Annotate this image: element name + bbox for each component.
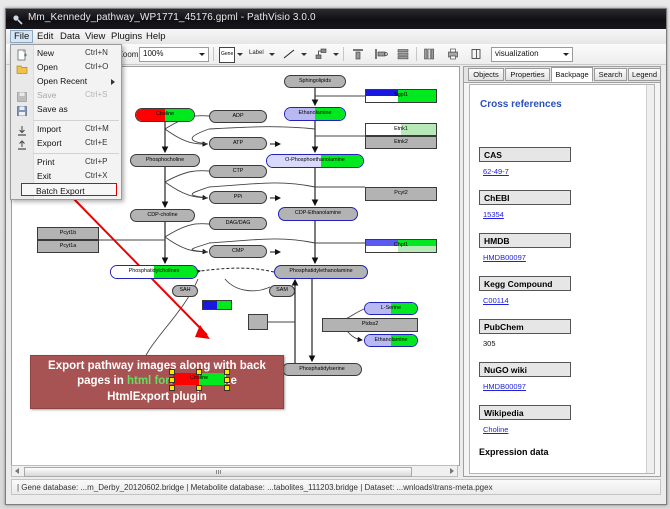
save-disk-icon bbox=[16, 90, 28, 102]
node-label: Phosphatidylcholines bbox=[129, 269, 180, 274]
zoom-combo[interactable]: 100% bbox=[139, 47, 209, 62]
gene-ptdss2[interactable]: Ptdss2 bbox=[322, 318, 418, 332]
xref-label-pubchem: PubChem bbox=[479, 319, 571, 334]
node-ethanolamine-bottom[interactable]: Ethanolamine bbox=[364, 334, 418, 347]
zoom-value: 100% bbox=[143, 49, 163, 58]
gene-label: Etnk1 bbox=[394, 127, 408, 132]
node-phosphatidylethanolamine[interactable]: Phosphatidylethanolamine bbox=[274, 265, 368, 279]
xref-value-hmdb[interactable]: HMDB00097 bbox=[483, 253, 526, 262]
gene-label: Chpt1 bbox=[394, 243, 408, 248]
gene-pcyt2[interactable]: Pcyt2 bbox=[365, 187, 437, 201]
menu-item-open-shortcut: Ctrl+O bbox=[85, 62, 108, 71]
gene-fill-left bbox=[366, 240, 398, 246]
toolbar-divider bbox=[213, 47, 214, 61]
menu-item-save-label: Save bbox=[37, 90, 56, 100]
gene-etnk2[interactable]: Etnk2 bbox=[365, 136, 437, 149]
xref-value-wikipedia[interactable]: Choline bbox=[483, 425, 508, 434]
backpage-vertical-scrollbar[interactable] bbox=[646, 85, 654, 473]
node-label: Choline bbox=[190, 376, 208, 381]
save-as-icon bbox=[16, 104, 28, 116]
align-left-icon[interactable] bbox=[374, 47, 388, 61]
gene-chpt1[interactable]: Chpt1 bbox=[365, 239, 437, 253]
gene-label: Pcyt1b bbox=[60, 231, 76, 236]
node-sam[interactable]: SAM bbox=[269, 285, 295, 297]
side-panel-tabs: Objects Properties Backpage Search Legen… bbox=[464, 67, 660, 83]
interaction-tool-chevron-icon[interactable] bbox=[333, 53, 339, 56]
node-label: PPi bbox=[234, 195, 242, 200]
pathvisio-icon bbox=[12, 13, 24, 25]
menu-item-batch-export[interactable]: Batch Export bbox=[21, 183, 117, 196]
gene-etnk1[interactable]: Etnk1 bbox=[365, 123, 437, 136]
interaction-tool-icon[interactable] bbox=[314, 47, 328, 61]
node-label: Phosphocholine bbox=[146, 158, 184, 163]
node-atp[interactable]: ATP bbox=[209, 137, 267, 150]
selection-handle-n[interactable] bbox=[196, 369, 202, 375]
node-label: ADP bbox=[232, 114, 243, 119]
gene-label: Pcyt1a bbox=[60, 244, 76, 249]
xref-label-chebi: ChEBI bbox=[479, 190, 571, 205]
align-top-icon[interactable] bbox=[351, 47, 365, 61]
selection-handle-sw[interactable] bbox=[169, 385, 175, 391]
annotation-callout: Export pathway images along with back pa… bbox=[30, 355, 284, 409]
node-label: Choline bbox=[156, 112, 174, 117]
node-o-phosphoethanolamine[interactable]: O-Phosphoethanolamine bbox=[266, 154, 364, 168]
tab-properties[interactable]: Properties bbox=[505, 68, 550, 81]
gene-tool-label: Gene bbox=[221, 51, 233, 57]
menu-divider-1 bbox=[33, 120, 119, 121]
menu-item-new-shortcut: Ctrl+N bbox=[85, 48, 108, 57]
gene-label: Etnk2 bbox=[394, 140, 408, 145]
node-phosphatidylcholines[interactable]: Phosphatidylcholines bbox=[110, 265, 198, 279]
node-sphingolipids[interactable]: Sphingolipids bbox=[284, 75, 346, 88]
gene-tool-icon[interactable]: Gene bbox=[219, 47, 235, 63]
menu-edit[interactable]: Edit bbox=[33, 30, 57, 43]
gene-pcyt1b[interactable]: Pcyt1b bbox=[37, 227, 99, 240]
node-ctp[interactable]: CTP bbox=[209, 165, 267, 178]
menu-item-export-shortcut: Ctrl+E bbox=[85, 138, 107, 147]
menu-file[interactable]: File bbox=[10, 30, 33, 43]
pathvisio-window: Mm_Kennedy_pathway_WP1771_45176.gpml - P… bbox=[5, 8, 667, 505]
node-cmp[interactable]: CMP bbox=[209, 245, 267, 258]
node-adp[interactable]: ADP bbox=[209, 110, 267, 123]
menu-item-save-as-label[interactable]: Save as bbox=[37, 104, 68, 114]
line-tool-icon[interactable] bbox=[282, 47, 296, 61]
gene-fill-left bbox=[366, 90, 398, 96]
export-icon bbox=[16, 138, 28, 150]
gene-fill-left bbox=[203, 301, 217, 309]
node-phosphocholine[interactable]: Phosphocholine bbox=[130, 154, 200, 167]
window-title: Mm_Kennedy_pathway_WP1771_45176.gpml - P… bbox=[28, 12, 316, 23]
node-label: CDP-choline bbox=[147, 213, 177, 218]
gene-tool-chevron-icon[interactable] bbox=[237, 53, 243, 56]
gene-pcyt1a[interactable]: Pcyt1a bbox=[37, 240, 99, 253]
print-icon[interactable] bbox=[446, 47, 460, 61]
menu-divider-2 bbox=[33, 153, 119, 154]
node-sah[interactable]: SAH bbox=[172, 285, 198, 297]
label-tool-label[interactable]: Label bbox=[249, 50, 264, 56]
annotation-line-1: Export pathway images along with back bbox=[48, 360, 266, 372]
visualization-value: visualization bbox=[495, 49, 539, 58]
scroll-left-arrow-icon[interactable] bbox=[15, 468, 19, 474]
menu-item-print-shortcut: Ctrl+P bbox=[85, 157, 107, 166]
panel-toggle-icon[interactable] bbox=[469, 47, 483, 61]
toolbar-divider-2 bbox=[343, 47, 344, 61]
gene-label: Ptdss2 bbox=[362, 322, 378, 327]
menu-bar: File Edit Data View Plugins Help bbox=[6, 29, 666, 45]
scroll-right-arrow-icon[interactable] bbox=[450, 468, 454, 474]
stack-center-icon[interactable] bbox=[396, 47, 410, 61]
node-phosphatidylserine[interactable]: Phosphatidylserine bbox=[282, 363, 362, 376]
visualization-chevron-down-icon bbox=[563, 53, 569, 56]
selection-handle-s[interactable] bbox=[196, 385, 202, 391]
annotation-line-2a: pages in bbox=[77, 375, 127, 387]
selection-handle-e[interactable] bbox=[224, 377, 230, 383]
tab-objects[interactable]: Objects bbox=[468, 68, 504, 81]
menu-item-exit-shortcut: Ctrl+X bbox=[85, 171, 107, 180]
toolbar-divider-3 bbox=[416, 47, 417, 61]
node-choline-top[interactable]: Choline bbox=[135, 108, 195, 122]
xref-value-kegg[interactable]: C00114 bbox=[483, 296, 509, 305]
distribute-columns-icon[interactable] bbox=[422, 47, 436, 61]
title-bar: Mm_Kennedy_pathway_WP1771_45176.gpml - P… bbox=[6, 9, 666, 29]
gene-fill-right bbox=[217, 301, 231, 309]
gene-sgpl1[interactable]: Sgpl1 bbox=[365, 89, 437, 103]
menu-view[interactable]: View bbox=[81, 30, 109, 43]
gene-sam-box[interactable] bbox=[202, 300, 232, 310]
annotation-line-3: HtmlExport plugin bbox=[107, 391, 207, 403]
chevron-down-icon bbox=[199, 53, 205, 56]
scrollbar-thumb[interactable] bbox=[24, 467, 412, 477]
menu-item-batch-export-label: Batch Export bbox=[36, 186, 85, 196]
node-l-serine[interactable]: L-Serine bbox=[364, 302, 418, 315]
menu-item-exit-label[interactable]: Exit bbox=[37, 171, 51, 181]
xref-value-pubchem: 305 bbox=[483, 339, 496, 348]
selection-handle-nw[interactable] bbox=[169, 369, 175, 375]
node-label: O-Phosphoethanolamine bbox=[285, 158, 345, 163]
menu-item-export-label[interactable]: Export bbox=[37, 138, 62, 148]
status-text: | Gene database: ...m_Derby_20120602.bri… bbox=[17, 483, 493, 492]
menu-plugins[interactable]: Plugins bbox=[107, 30, 146, 43]
xref-label-wikipedia: Wikipedia bbox=[479, 405, 571, 420]
node-label: Sphingolipids bbox=[299, 79, 331, 84]
node-dag[interactable]: DAG/DAG bbox=[209, 217, 267, 230]
expression-data-heading: Expression data bbox=[479, 447, 549, 457]
menu-item-new-label[interactable]: New bbox=[37, 48, 54, 58]
node-label: CDP-Ethanolamine bbox=[295, 211, 341, 216]
gene-anchor-box[interactable] bbox=[248, 314, 268, 330]
xref-label-kegg: Kegg Compound bbox=[479, 276, 571, 291]
gene-label: Pcyt2 bbox=[394, 191, 407, 196]
menu-item-save-shortcut: Ctrl+S bbox=[85, 90, 107, 99]
visualization-combo[interactable]: visualization bbox=[491, 47, 573, 62]
cross-references-heading: Cross references bbox=[480, 99, 562, 110]
submenu-chevron-right-icon bbox=[111, 79, 115, 85]
file-menu-dropdown[interactable]: New Ctrl+N Open Ctrl+O Open Recent Save … bbox=[10, 44, 122, 200]
xref-label-nugo: NuGO wiki bbox=[479, 362, 571, 377]
node-label: ATP bbox=[233, 141, 243, 146]
node-label: SAH bbox=[179, 288, 190, 293]
thumb-grip-icon bbox=[216, 470, 221, 474]
menu-item-open-label[interactable]: Open bbox=[37, 62, 58, 72]
node-cdp-ethanolamine[interactable]: CDP-Ethanolamine bbox=[278, 207, 358, 221]
folder-open-icon bbox=[16, 62, 28, 74]
selection-handle-ne[interactable] bbox=[224, 369, 230, 375]
canvas-horizontal-scrollbar[interactable] bbox=[11, 465, 458, 477]
app-frame: Mm_Kennedy_pathway_WP1771_45176.gpml - P… bbox=[0, 0, 670, 509]
menu-item-import-shortcut: Ctrl+M bbox=[85, 124, 109, 133]
selection-handle-se[interactable] bbox=[224, 385, 230, 391]
gene-label: Sgpl1 bbox=[394, 93, 408, 98]
selection-handle-w[interactable] bbox=[169, 377, 175, 383]
menu-help[interactable]: Help bbox=[142, 30, 170, 43]
node-label: Phosphatidylethanolamine bbox=[289, 269, 352, 274]
xref-value-nugo[interactable]: HMDB00097 bbox=[483, 382, 526, 391]
node-label: CMP bbox=[232, 249, 244, 254]
new-document-icon bbox=[16, 48, 28, 60]
import-icon bbox=[16, 124, 28, 136]
node-label: Phosphatidylserine bbox=[299, 367, 345, 372]
tab-search[interactable]: Search bbox=[594, 68, 627, 81]
node-label: Ethanolamine bbox=[375, 338, 408, 343]
status-bar: | Gene database: ...m_Derby_20120602.bri… bbox=[11, 479, 661, 495]
menu-item-open-recent-label[interactable]: Open Recent bbox=[37, 76, 87, 86]
node-cdp-choline[interactable]: CDP-choline bbox=[130, 209, 195, 222]
node-label: SAM bbox=[276, 288, 288, 293]
xref-label-hmdb: HMDB bbox=[479, 233, 571, 248]
xref-label-cas: CAS bbox=[479, 147, 571, 162]
menu-data[interactable]: Data bbox=[56, 30, 84, 43]
tab-backpage[interactable]: Backpage bbox=[551, 67, 593, 82]
menu-item-print-label[interactable]: Print bbox=[37, 157, 54, 167]
backpage-content[interactable]: Cross references CAS 62-49-7 ChEBI 15354… bbox=[469, 84, 655, 474]
tab-legend[interactable]: Legend bbox=[628, 68, 661, 81]
menu-item-import-label[interactable]: Import bbox=[37, 124, 61, 134]
node-label: DAG/DAG bbox=[226, 221, 251, 226]
node-ppi[interactable]: PPi bbox=[209, 191, 267, 204]
side-panel: Objects Properties Backpage Search Legen… bbox=[463, 66, 661, 477]
node-ethanolamine-top[interactable]: Ethanolamine bbox=[284, 107, 346, 121]
node-label: Ethanolamine bbox=[299, 111, 332, 116]
xref-value-chebi[interactable]: 15354 bbox=[483, 210, 504, 219]
node-label: CTP bbox=[233, 169, 244, 174]
line-tool-chevron-icon[interactable] bbox=[301, 53, 307, 56]
xref-value-cas[interactable]: 62-49-7 bbox=[483, 167, 509, 176]
node-label: L-Serine bbox=[381, 306, 401, 311]
label-tool-chevron-icon[interactable] bbox=[269, 53, 275, 56]
